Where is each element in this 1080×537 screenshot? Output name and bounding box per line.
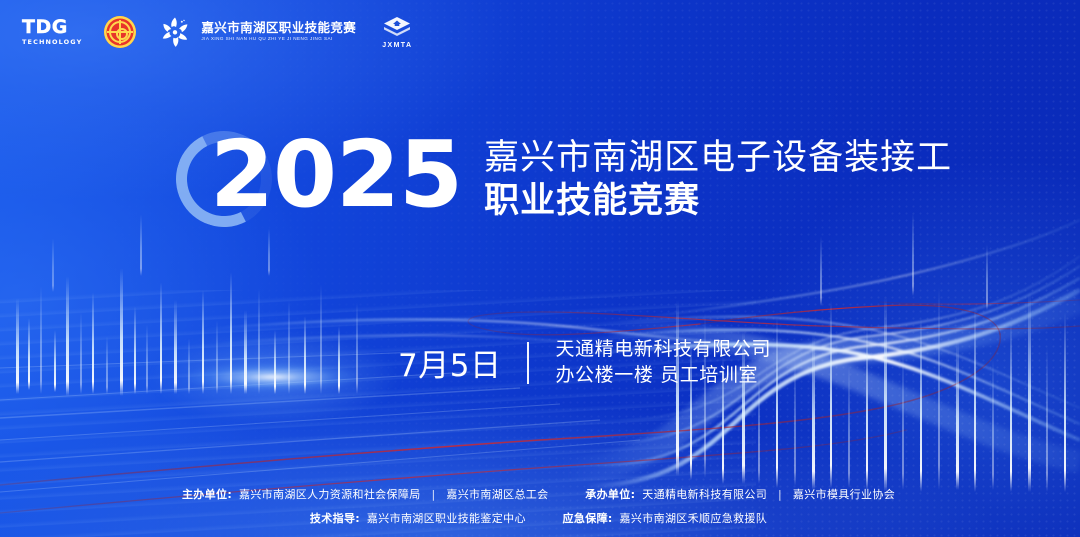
tech-guidance-value: 嘉兴市南湖区职业技能鉴定中心 (367, 512, 526, 525)
tdg-logo-tagline: TECHNOLOGY (22, 39, 82, 46)
footer-separator: | (431, 488, 435, 501)
host-value-1: 天通精电新科技有限公司 (642, 488, 767, 501)
header-logo-bar: TDG TECHNOLOGY (22, 10, 412, 54)
event-date: 7月5日 (398, 340, 501, 385)
jxmta-logo: JXMTA (382, 15, 412, 49)
footer-separator: | (778, 488, 782, 501)
event-info-block: 7月5日 天通精电新科技有限公司 办公楼一楼 员工培训室 (398, 337, 771, 388)
footer: 主办单位: 嘉兴市南湖区人力资源和社会保障局 | 嘉兴市南湖区总工会 承办单位:… (0, 478, 1080, 526)
info-divider (527, 342, 529, 384)
tdg-logo-wordmark: TDG (22, 18, 68, 37)
year-text: 2025 (210, 131, 462, 219)
poster-canvas: TDG TECHNOLOGY (0, 0, 1080, 537)
title-line-2: 职业技能竞赛 (484, 180, 952, 223)
competition-logo-cn: 嘉兴市南湖区职业技能竞赛 (201, 22, 356, 35)
emergency-label: 应急保障: (563, 512, 613, 525)
organizer-value-1: 嘉兴市南湖区人力资源和社会保障局 (239, 488, 421, 501)
tech-guidance-label: 技术指导: (310, 512, 360, 525)
title-block: 2025 嘉兴市南湖区电子设备装接工 职业技能竞赛 (210, 131, 952, 222)
competition-burst-icon (158, 15, 192, 49)
competition-logo-pinyin: JIA XING SHI NAN HU QU ZHI YE JI NENG JI… (201, 37, 356, 42)
background-light-streaks (0, 0, 1080, 537)
host-label: 承办单位: (585, 488, 635, 501)
host-value-2: 嘉兴市模具行业协会 (793, 488, 895, 501)
footer-row-2: 技术指导: 嘉兴市南湖区职业技能鉴定中心 应急保障: 嘉兴市南湖区禾顺应急救援队 (0, 510, 1080, 526)
organizer-value-2: 嘉兴市南湖区总工会 (446, 488, 548, 501)
venue-line-1: 天通精电新科技有限公司 (555, 337, 771, 363)
venue-line-2: 办公楼一楼 员工培训室 (555, 363, 771, 389)
jxmta-mold-icon (382, 15, 412, 39)
title-line-1: 嘉兴市南湖区电子设备装接工 (484, 137, 952, 180)
competition-logo: 嘉兴市南湖区职业技能竞赛 JIA XING SHI NAN HU QU ZHI … (158, 15, 382, 49)
emergency-value: 嘉兴市南湖区禾顺应急救援队 (620, 512, 768, 525)
organizer-label: 主办单位: (182, 488, 232, 501)
footer-row-1: 主办单位: 嘉兴市南湖区人力资源和社会保障局 | 嘉兴市南湖区总工会 承办单位:… (0, 486, 1080, 502)
union-emblem-icon (104, 16, 158, 48)
tdg-logo: TDG TECHNOLOGY (22, 18, 82, 46)
jxmta-logo-text: JXMTA (382, 42, 412, 49)
